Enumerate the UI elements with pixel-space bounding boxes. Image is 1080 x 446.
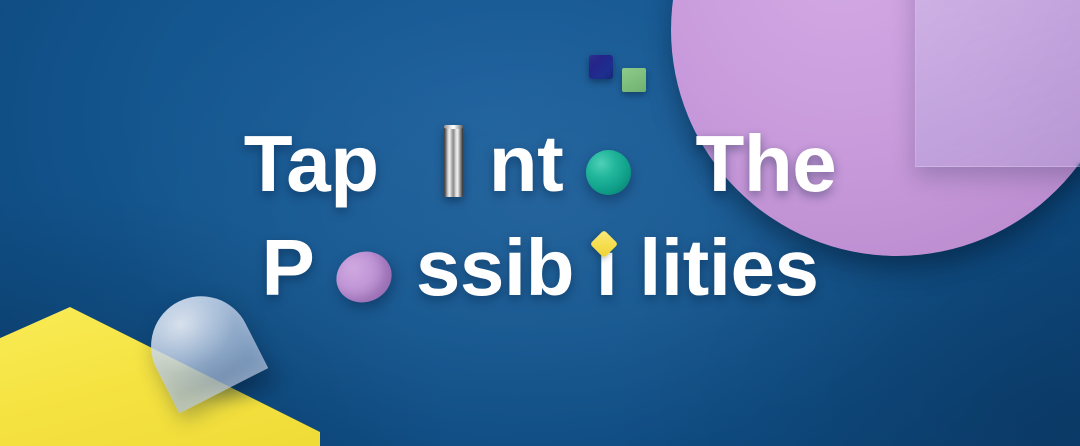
headline-word-into-mid: nt bbox=[489, 112, 564, 216]
headline-word-the: The bbox=[695, 112, 836, 216]
teal-sphere-icon bbox=[586, 150, 631, 195]
headline: Tap nt The P ssib ı lities bbox=[0, 112, 1080, 320]
green-cube-shape bbox=[622, 68, 646, 92]
headline-letters-ssib: ssib bbox=[416, 216, 574, 320]
metal-cylinder-icon bbox=[444, 125, 463, 197]
hero-banner: Tap nt The P ssib ı lities bbox=[0, 0, 1080, 446]
headline-line-2-inner: P ssib ı lities bbox=[262, 216, 819, 320]
headline-word-tap: Tap bbox=[244, 112, 379, 216]
purple-disc-icon bbox=[329, 243, 400, 310]
headline-line-1: Tap nt The bbox=[0, 112, 1080, 216]
navy-cube-shape bbox=[589, 55, 613, 79]
headline-line-2: P ssib ı lities bbox=[0, 216, 1080, 320]
headline-letters-lities: lities bbox=[639, 216, 818, 320]
headline-letter-p: P bbox=[262, 216, 315, 320]
